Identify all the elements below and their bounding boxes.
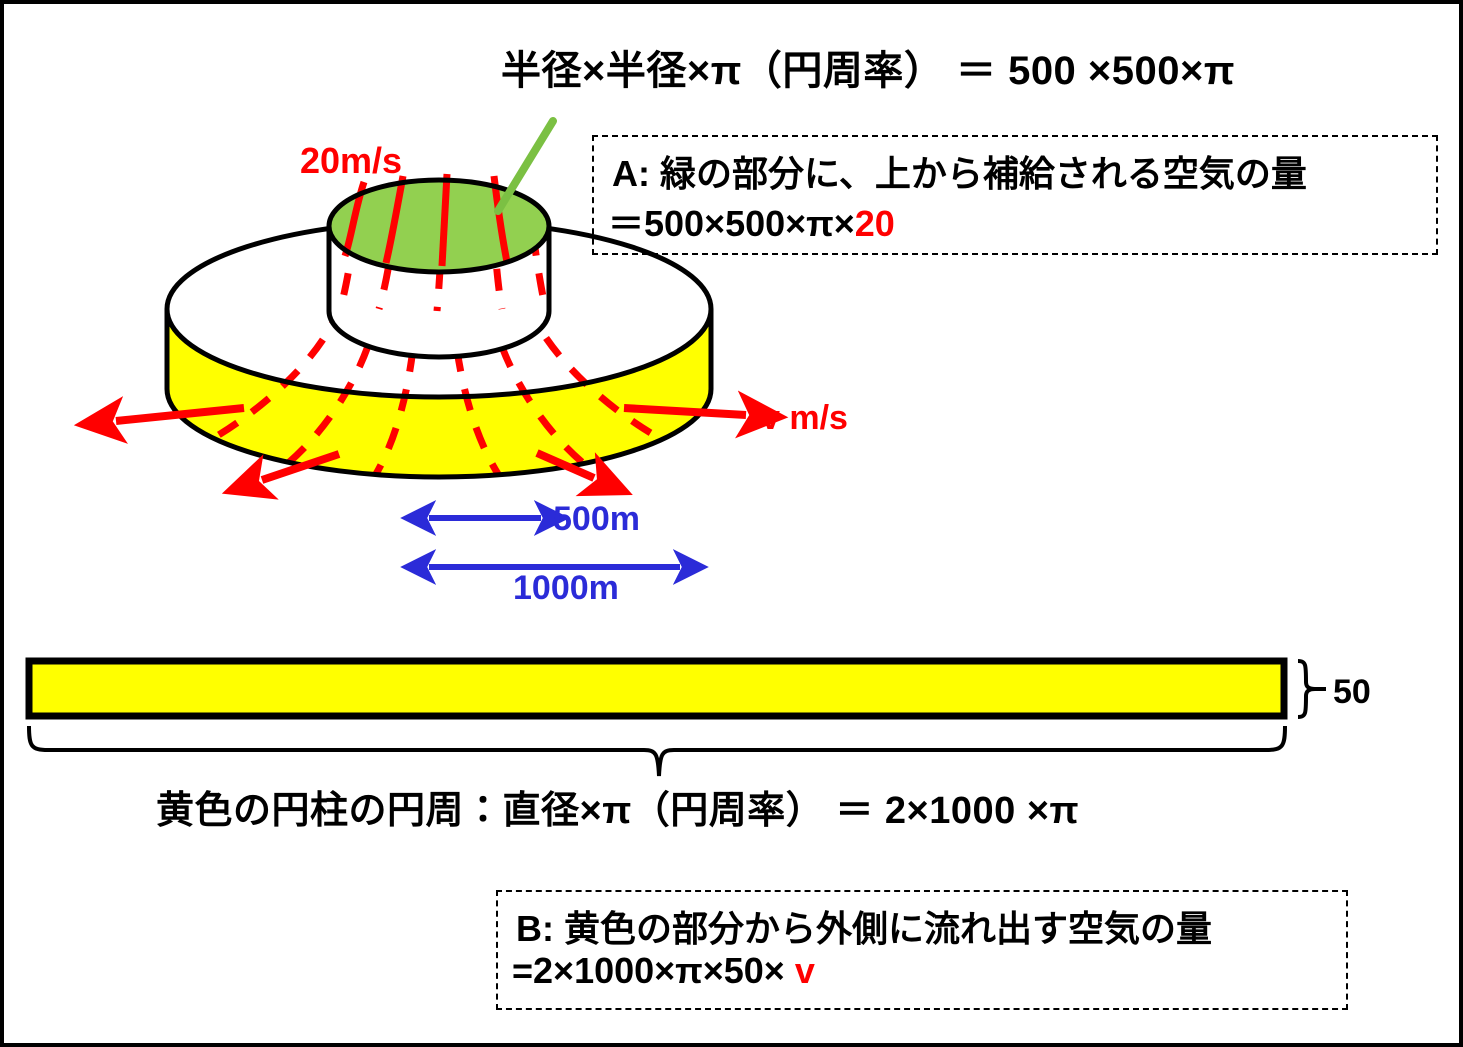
circumference-brace <box>29 726 1285 776</box>
callout-a-formula-prefix: ＝500×500×π× <box>608 203 855 244</box>
height-brace <box>1298 661 1315 717</box>
callout-b-highlight-value: v <box>795 950 815 991</box>
callout-a-highlight-value: 20 <box>855 203 895 244</box>
callout-box-b: B: 黄色の部分から外側に流れ出す空気の量 =2×1000×π×50× v <box>496 890 1348 1010</box>
circumference-caption: 黄色の円柱の円周：直径×π（円周率） ＝ 2×1000 ×π <box>156 789 1079 834</box>
inner-radius-label: 500m <box>553 499 640 539</box>
band-height-label: 50 <box>1333 672 1371 712</box>
inflow-speed-label: 20m/s <box>300 140 402 182</box>
unrolled-band-group <box>29 661 1326 776</box>
circle-area-formula: 半径×半径×π（円周率） ＝ 500 ×500×π <box>501 48 1235 95</box>
callout-b-line2: =2×1000×π×50× v <box>512 950 815 992</box>
outflow-speed-label: v m/s <box>761 398 848 438</box>
callout-a-line1: A: 緑の部分に、上から補給される空気の量 <box>612 145 1307 197</box>
diagram-page: 半径×半径×π（円周率） ＝ 500 ×500×π A: 緑の部分に、上から補給… <box>0 0 1463 1047</box>
callout-b-line1: B: 黄色の部分から外側に流れ出す空気の量 <box>516 900 1212 952</box>
callout-b-formula-prefix: =2×1000×π×50× <box>512 950 795 991</box>
callout-a-line2: ＝500×500×π×20 <box>608 195 895 247</box>
callout-box-a: A: 緑の部分に、上から補給される空気の量 ＝500×500×π×20 <box>592 135 1438 255</box>
unrolled-yellow-band <box>29 661 1284 716</box>
outer-diameter-label: 1000m <box>513 568 619 608</box>
